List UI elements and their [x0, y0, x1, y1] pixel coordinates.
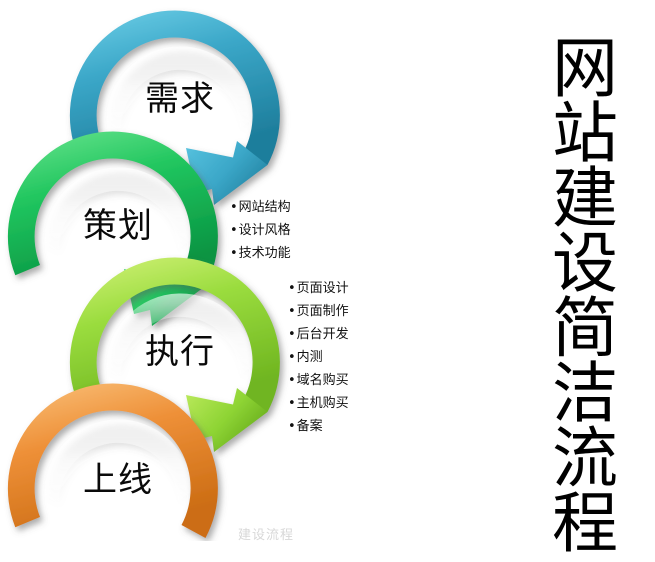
list-item: •域名购买 — [288, 369, 349, 392]
bullet-group-execution-details: •页面设计 •页面制作 •后台开发 •内测 •域名购买 •主机购买 •备案 — [288, 277, 349, 438]
list-item: •设计风格 — [230, 219, 291, 242]
bullet-group-planning-details: •网站结构 •设计风格 •技术功能 — [230, 196, 291, 265]
stage-label-requirement: 需求 — [145, 82, 215, 116]
title-char: 简 — [539, 296, 631, 361]
bullet-dot-icon: • — [288, 373, 296, 388]
list-item-label: 备案 — [297, 419, 323, 434]
list-item-label: 页面设计 — [297, 281, 349, 296]
list-item: •备案 — [288, 415, 349, 438]
title-char: 流 — [539, 426, 631, 491]
list-item-label: 内测 — [297, 350, 323, 365]
list-item-label: 设计风格 — [239, 223, 291, 238]
bullet-dot-icon: • — [288, 396, 296, 411]
list-item: •主机购买 — [288, 392, 349, 415]
title-char: 洁 — [539, 361, 631, 426]
list-item-label: 页面制作 — [297, 304, 349, 319]
list-item: •技术功能 — [230, 242, 291, 265]
title-char: 站 — [539, 101, 631, 166]
bullet-dot-icon: • — [288, 304, 296, 319]
title-char: 程 — [539, 491, 631, 556]
list-item-label: 网站结构 — [239, 200, 291, 215]
list-item: •后台开发 — [288, 323, 349, 346]
list-item: •网站结构 — [230, 196, 291, 219]
bullet-dot-icon: • — [230, 200, 238, 215]
list-item-label: 后台开发 — [297, 327, 349, 342]
bullet-dot-icon: • — [288, 419, 296, 434]
footer-watermark-text: 建设流程 — [238, 524, 294, 543]
page-title: 网 站 建 设 简 洁 流 程 — [539, 36, 631, 556]
list-item: •页面设计 — [288, 277, 349, 300]
bullet-dot-icon: • — [288, 350, 296, 365]
bullet-dot-icon: • — [288, 327, 296, 342]
diagram-canvas: 需求 策划 执行 上线 •网站结构 •设计风格 •技术功能 •页面设计 •页面制… — [0, 0, 655, 541]
list-item-label: 主机购买 — [297, 396, 349, 411]
list-item: •内测 — [288, 346, 349, 369]
stage-label-launch: 上线 — [83, 463, 153, 497]
stage-label-execution: 执行 — [145, 335, 215, 369]
list-item: •页面制作 — [288, 300, 349, 323]
bullet-dot-icon: • — [230, 223, 238, 238]
title-char: 建 — [539, 166, 631, 231]
title-char: 设 — [539, 231, 631, 296]
list-item-label: 技术功能 — [239, 246, 291, 261]
title-char: 网 — [539, 36, 631, 101]
list-item-label: 域名购买 — [297, 373, 349, 388]
bullet-dot-icon: • — [230, 246, 238, 261]
bullet-dot-icon: • — [288, 281, 296, 296]
stage-label-planning: 策划 — [83, 209, 153, 243]
